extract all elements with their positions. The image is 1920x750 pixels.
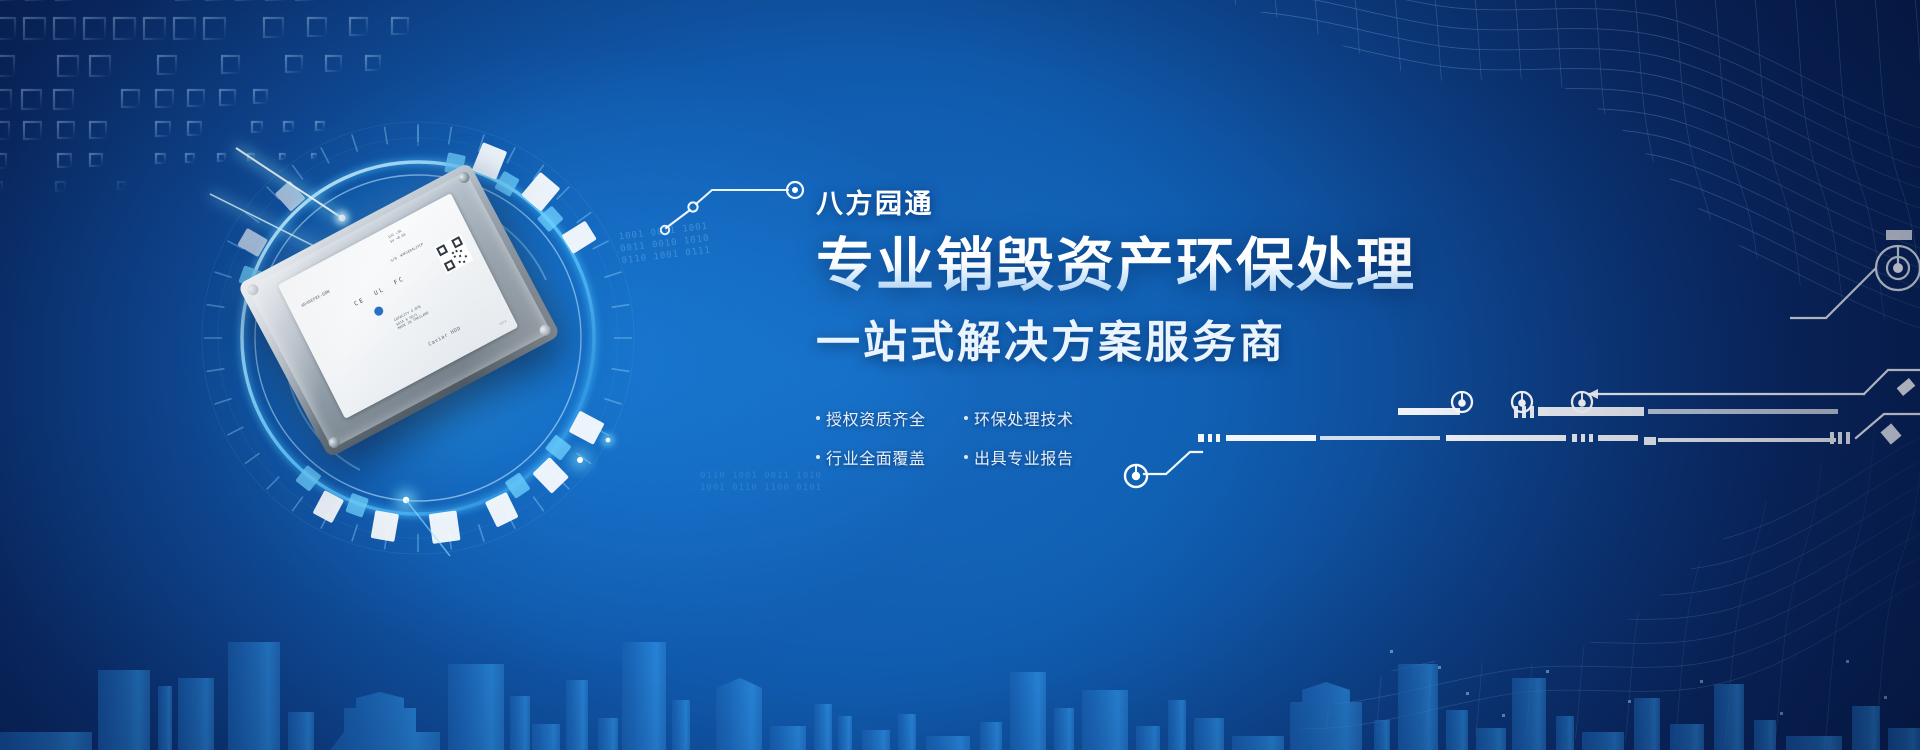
hdd-label-model: WD40EFRX-68N bbox=[301, 290, 331, 309]
hdd-screw bbox=[538, 323, 553, 338]
hdd-label-blue-dot bbox=[373, 305, 385, 317]
hdd-screw bbox=[245, 282, 260, 297]
hdd-specular-highlight bbox=[237, 162, 560, 458]
bullet-dot-icon bbox=[816, 455, 820, 459]
hdd-label-brand-bottom: Caviar HDD bbox=[428, 326, 462, 347]
hdd-label-voltage: 12V →3A 5V →0.6A bbox=[387, 228, 406, 244]
bullet-dot-icon bbox=[964, 455, 968, 459]
hdd-label-side: SATA bbox=[499, 319, 508, 327]
bullet-item: 出具专业报告 bbox=[964, 445, 1090, 469]
bullet-item: 环保处理技术 bbox=[964, 406, 1090, 430]
binary-text-decoration-c: 0110 1001 0011 1010 1001 0110 1100 0101 bbox=[700, 470, 822, 494]
tech-ring-glow-decoration bbox=[188, 108, 648, 568]
circuit-trace-left bbox=[660, 176, 820, 236]
hdd-label-barcode bbox=[433, 233, 473, 274]
circuit-node-right-edge bbox=[1790, 226, 1920, 376]
hdd-screw bbox=[456, 170, 471, 185]
hdd-screw bbox=[327, 435, 342, 450]
bullet-row: 授权资质齐全 环保处理技术 bbox=[816, 406, 1116, 430]
bullet-label: 行业全面覆盖 bbox=[826, 445, 926, 469]
feature-bullet-list: 授权资质齐全 环保处理技术 行业全面覆盖 出具专业报告 bbox=[816, 406, 1116, 469]
binary-text-decoration-a: 0011 0010 1001 1001 1010 0110 1011 0010 … bbox=[292, 304, 445, 388]
hdd-bevel bbox=[247, 171, 551, 448]
bullet-dot-icon bbox=[816, 416, 820, 420]
hdd-label-serial: S/N WXK1E84LJYCP bbox=[390, 242, 424, 263]
hdd-chassis: 12V →3A 5V →0.6A WD40EFRX-68N S/N WXK1E8… bbox=[237, 162, 560, 458]
hdd-label-capacity: CAPACITY 4.0TB SATA 6 Gb/s MADE IN THAIL… bbox=[393, 303, 429, 331]
hdd-label-sticker: 12V →3A 5V →0.6A WD40EFRX-68N S/N WXK1E8… bbox=[278, 193, 519, 419]
main-headline: 专业销毁资产环保处理 bbox=[816, 235, 1576, 296]
sub-headline: 一站式解决方案服务商 bbox=[816, 306, 1576, 370]
bullet-row: 行业全面覆盖 出具专业报告 bbox=[816, 445, 1116, 469]
brand-name: 八方园通 bbox=[816, 182, 1576, 221]
bullet-dot-icon bbox=[964, 416, 968, 420]
digital-square-grid-decoration bbox=[0, 0, 450, 202]
city-skyline-silhouette bbox=[0, 550, 1920, 750]
bullet-item: 行业全面覆盖 bbox=[816, 445, 942, 469]
bullet-label: 环保处理技术 bbox=[974, 406, 1074, 430]
binary-text-decoration-b: 1001 0011 1001 0011 0010 1010 0110 1001 … bbox=[618, 221, 712, 268]
hard-disk-drive-image: 12V →3A 5V →0.6A WD40EFRX-68N S/N WXK1E8… bbox=[237, 162, 560, 458]
bullet-label: 授权资质齐全 bbox=[826, 406, 926, 430]
promo-banner: 0011 0010 1001 1001 1010 0110 1011 0010 … bbox=[0, 0, 1920, 750]
bullet-item: 授权资质齐全 bbox=[816, 406, 942, 430]
hdd-label-certs: CE UL FC bbox=[354, 277, 406, 307]
headline-copy-block: 八方园通 专业销毁资产环保处理 一站式解决方案服务商 授权资质齐全 环保处理技术… bbox=[816, 182, 1576, 484]
bullet-label: 出具专业报告 bbox=[974, 445, 1074, 469]
